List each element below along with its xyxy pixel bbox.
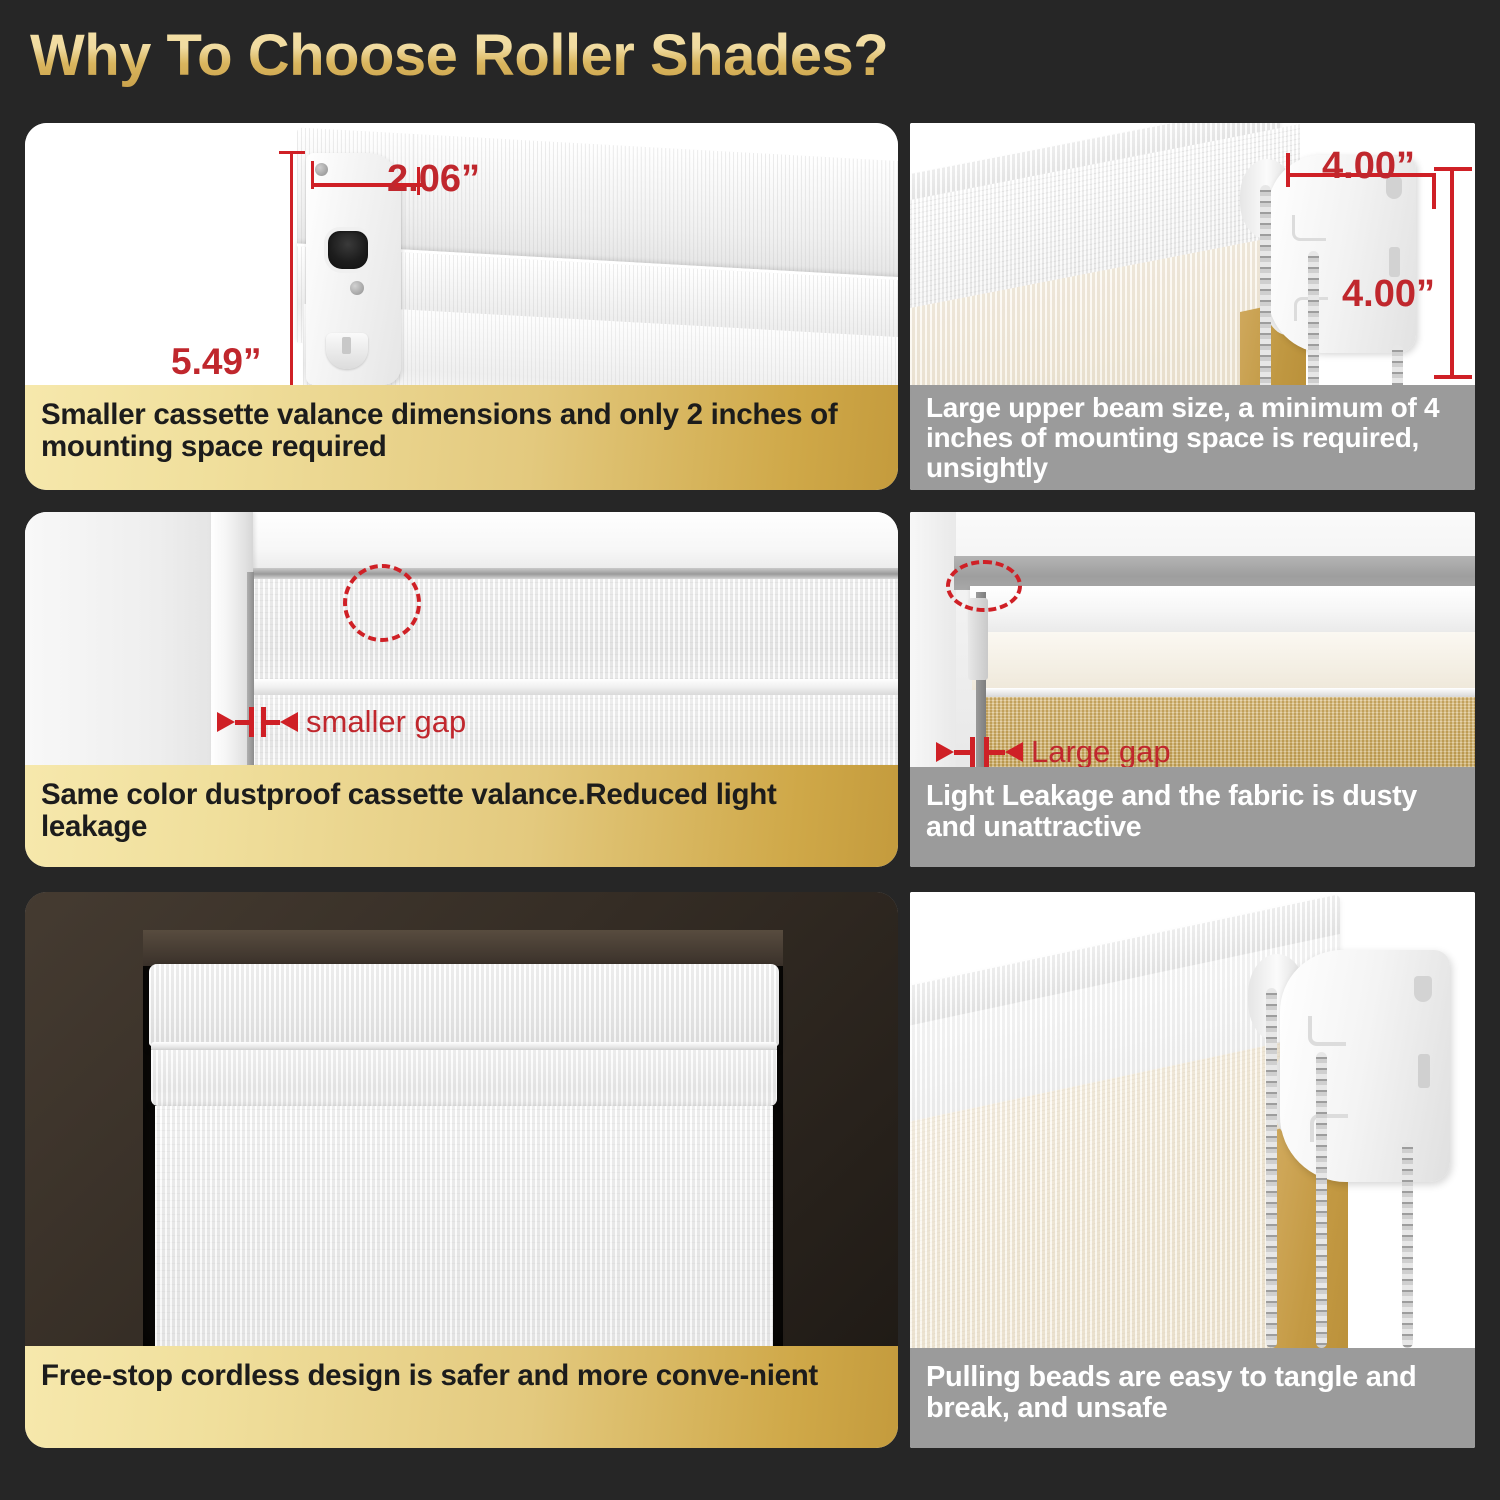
beam-width-tick-left [1286, 153, 1290, 187]
bracket-arrow-icon [1292, 215, 1326, 241]
arrow-right-icon [217, 712, 235, 732]
bead-chain [1392, 345, 1403, 385]
valance-rail [978, 688, 1475, 697]
panel-4-caption: Light Leakage and the fabric is dusty an… [910, 767, 1475, 867]
bead-chain[interactable] [1266, 988, 1277, 1348]
beam-height-label: 4.00” [1342, 273, 1435, 316]
mounting-bracket [1280, 950, 1450, 1182]
valance-lower [972, 632, 1475, 690]
gap-tick [970, 737, 975, 767]
width-dimension-tick-left [311, 161, 314, 189]
panel-cordless-design: Free-stop cordless design is safer and m… [25, 892, 898, 1448]
height-dimension-label: 5.49” [171, 341, 262, 383]
large-gap-annotation: Large gap [936, 734, 1171, 770]
panel-1-image: 5.49” 2.06” [25, 123, 898, 385]
panel-2-image: 4.00” 4.00” [910, 123, 1475, 385]
highlight-circle-icon [946, 560, 1022, 612]
screw-icon [350, 281, 364, 295]
highlight-circle-icon [343, 564, 421, 642]
gap-stem [989, 750, 1005, 755]
panel-6-image [910, 892, 1475, 1348]
cassette-valance [149, 964, 779, 1046]
smaller-gap-annotation: smaller gap [217, 704, 466, 740]
cassette-lower [151, 1050, 777, 1106]
upper-shadow-band [954, 556, 1475, 590]
beam-height-tick-bottom [1434, 375, 1472, 379]
panel-3-caption: Same color dustproof cassette valance.Re… [25, 765, 898, 867]
bracket-arrow-icon [1308, 1016, 1346, 1046]
panel-2-caption: Large upper beam size, a minimum of 4 in… [910, 385, 1475, 490]
roller-slot [328, 231, 368, 269]
arrow-right-icon [936, 742, 954, 762]
panel-5-image [25, 892, 898, 1346]
panel-light-leakage: Large gap Light Leakage and the fabric i… [910, 512, 1475, 867]
shade-divider-bar [253, 679, 898, 695]
smaller-gap-label: smaller gap [306, 704, 466, 740]
bracket-notch [1414, 976, 1432, 1002]
bead-chain[interactable] [1402, 1142, 1413, 1348]
height-dimension-tick-top [279, 151, 305, 154]
panel-large-upper-beam: 4.00” 4.00” Large upper beam size, a min… [910, 123, 1475, 490]
bead-chain [1308, 251, 1319, 385]
beam-height-dimension-line [1450, 167, 1454, 379]
window-head-frame [211, 512, 898, 574]
arrow-left-icon [280, 712, 298, 732]
bead-chain[interactable] [1316, 1052, 1327, 1348]
mounting-clip [326, 333, 368, 369]
beam-width-label: 4.00” [1322, 145, 1415, 188]
window-header [143, 930, 783, 966]
beam-height-tick-top [1434, 167, 1472, 171]
width-dimension-label: 2.06” [387, 158, 480, 201]
screw-icon [315, 163, 328, 176]
wall [910, 512, 956, 767]
panel-smaller-cassette: 5.49” 2.06” Smaller cassette valance dim… [25, 123, 898, 490]
white-valance [970, 586, 1475, 636]
panel-dustproof-cassette: smaller gap Same color dustproof cassett… [25, 512, 898, 867]
arrow-left-icon [1005, 742, 1023, 762]
gap-stem [954, 750, 970, 755]
large-gap-label: Large gap [1031, 734, 1171, 770]
panel-6-caption: Pulling beads are easy to tangle and bre… [910, 1348, 1475, 1448]
gap-tick [249, 707, 254, 737]
gap-stem [235, 720, 249, 725]
wall [25, 512, 215, 765]
beam-width-tick-right [1432, 175, 1436, 209]
panel-3-image: smaller gap [25, 512, 898, 765]
panel-1-caption: Smaller cassette valance dimensions and … [25, 385, 898, 490]
page-title: Why To Choose Roller Shades? [30, 22, 888, 89]
bracket-notch [1418, 1054, 1430, 1088]
gap-stem [266, 720, 280, 725]
cassette-rail [253, 568, 898, 579]
bead-chain [1260, 185, 1271, 385]
panel-pulling-beads: Pulling beads are easy to tangle and bre… [910, 892, 1475, 1448]
panel-5-caption: Free-stop cordless design is safer and m… [25, 1346, 898, 1448]
panel-4-image: Large gap [910, 512, 1475, 767]
